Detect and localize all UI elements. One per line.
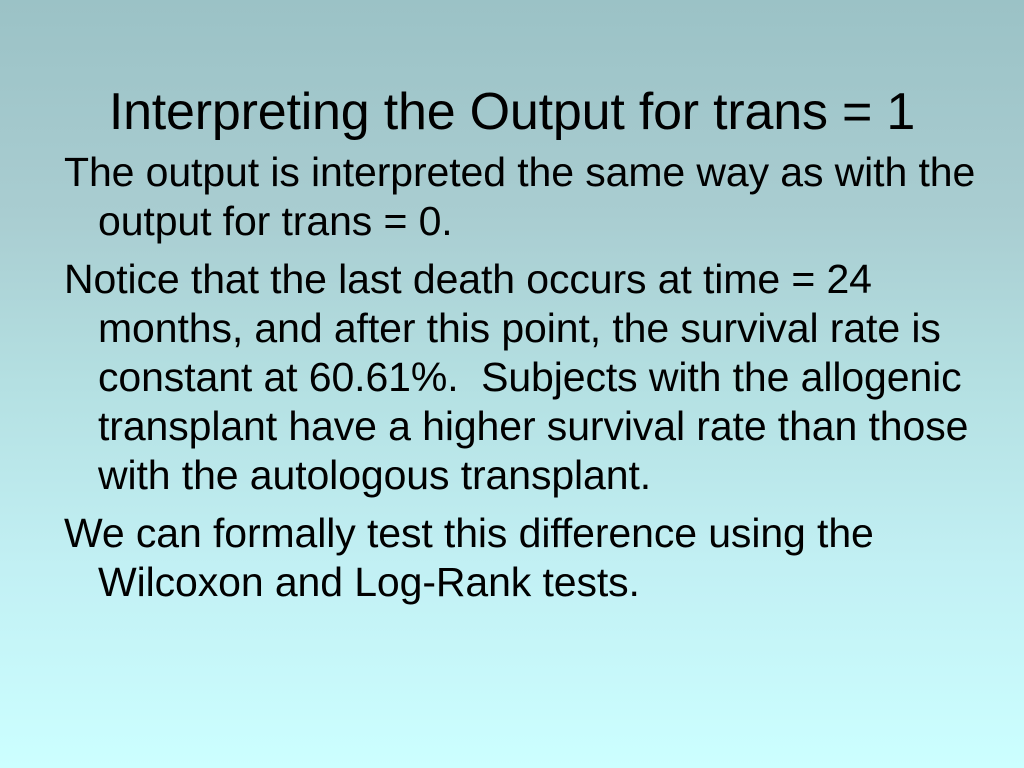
- page-title: Interpreting the Output for trans = 1: [40, 81, 984, 143]
- presentation-slide: Interpreting the Output for trans = 1 Th…: [0, 0, 1024, 768]
- slide-body-content: The output is interpreted the same way a…: [64, 148, 976, 607]
- body-paragraph-2: Notice that the last death occurs at tim…: [64, 255, 976, 500]
- body-paragraph-1: The output is interpreted the same way a…: [64, 148, 976, 246]
- body-paragraph-3: We can formally test this difference usi…: [64, 509, 976, 607]
